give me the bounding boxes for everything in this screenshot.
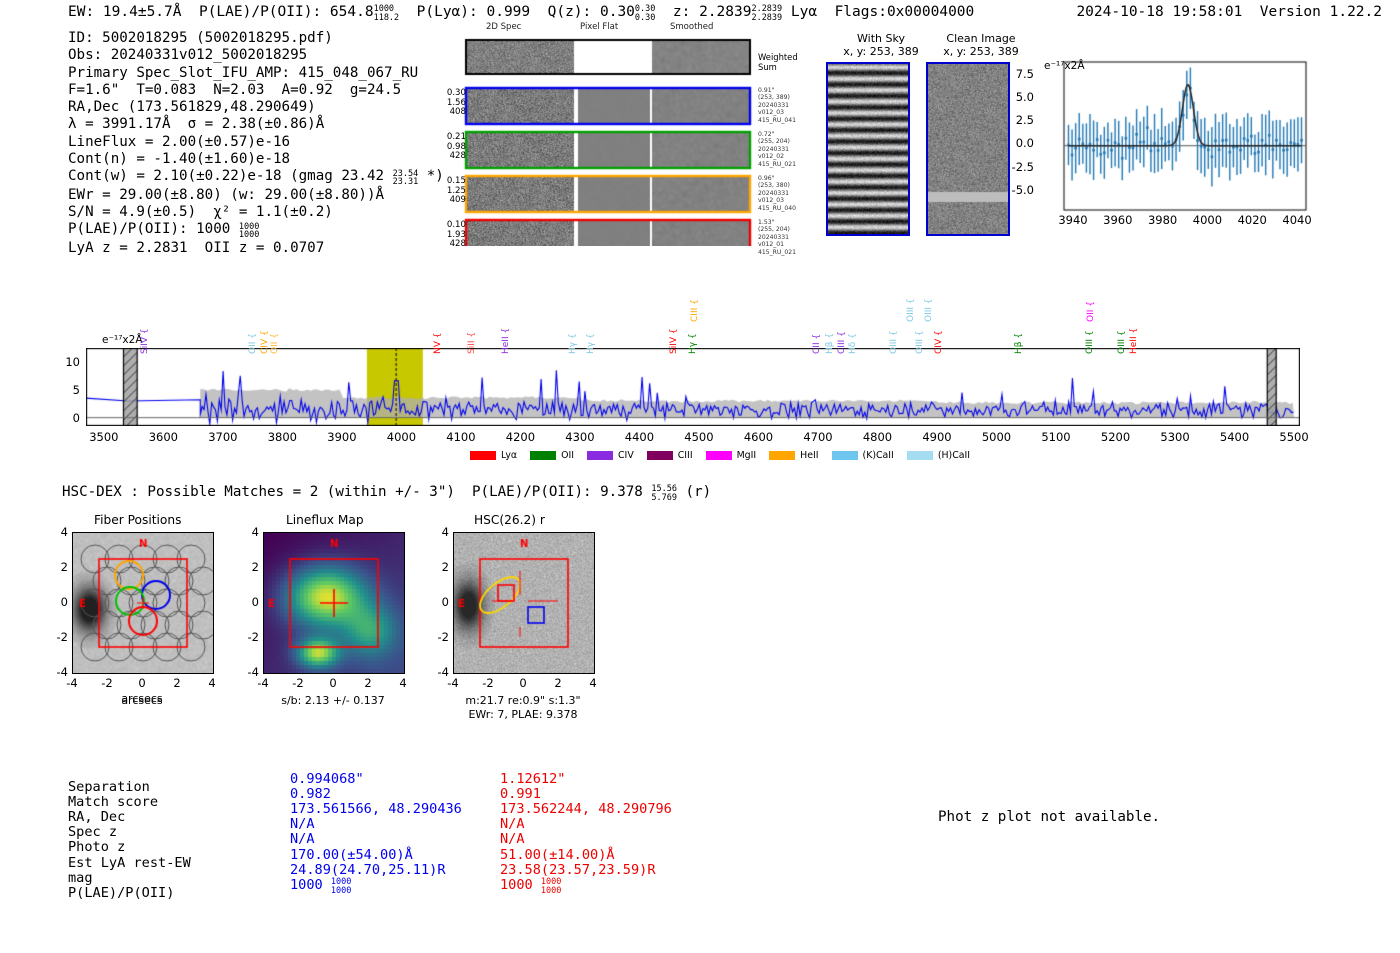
legend-swatch — [530, 451, 556, 460]
plae-line: P(LAE)/P(OII): 1000 10001000 — [68, 221, 444, 239]
match-table-row-label: Est LyA rest-EW — [68, 856, 278, 871]
legend-label: (K)CaII — [863, 450, 894, 461]
linefit-xtick: 4040 — [1280, 213, 1314, 227]
match-table-col1-value: N/A — [290, 817, 315, 832]
cutout-ytick: 2 — [423, 560, 449, 574]
match-table-col2-value: 51.00(±14.00)Å — [500, 848, 615, 863]
spectrum-xtick: 4500 — [677, 430, 721, 444]
match-table-col1-value: 0.982 — [290, 787, 331, 802]
legend-swatch — [907, 451, 933, 460]
cutout-xtick: 4 — [577, 676, 609, 690]
legend-item: (K)CaII — [832, 450, 894, 461]
fiber-positions-axis-label: arcsecs — [72, 692, 212, 705]
spectrum-xtick: 5200 — [1094, 430, 1138, 444]
cutout-ytick: 4 — [423, 525, 449, 539]
cutout-ytick: -4 — [42, 665, 68, 679]
spectrum-unit-label: e⁻¹⁷x2Å — [102, 334, 143, 346]
lineflux-map-caption: s/b: 2.13 +/- 0.137 — [253, 694, 413, 707]
match-table-col2-value: 0.991 — [500, 787, 541, 802]
spectrum-line-label: HeII { — [501, 328, 511, 354]
spectrum-line-label: OIII { — [906, 298, 916, 322]
match-table-row-label: RA, Dec — [68, 810, 278, 825]
cutout-xtick: 4 — [387, 676, 419, 690]
spectrum-line-label: Hβ { — [1014, 333, 1024, 354]
legend-label: CIV — [618, 450, 634, 461]
spectrum-xtick: 3500 — [82, 430, 126, 444]
linefit-ytick: 0.0 — [998, 136, 1034, 150]
spectrum-line-label: Hγ { — [568, 333, 578, 354]
cutout-xtick: 0 — [317, 676, 349, 690]
sn-chi2-line: S/N = 4.9(±0.5) χ² = 1.1(±0.2) — [68, 204, 444, 221]
cont-n-line: Cont(n) = -1.40(±1.60)e-18 — [68, 151, 444, 168]
legend-item: OII — [530, 450, 574, 461]
spectrum-xtick: 4800 — [855, 430, 899, 444]
line-fit-unit-label: e⁻¹⁷x2Å — [1044, 60, 1085, 72]
legend-swatch — [647, 451, 673, 460]
hscdex-header: HSC-DEX : Possible Matches = 2 (within +… — [62, 484, 711, 502]
legend-item: CIV — [587, 450, 634, 461]
header-z-range: 2.28392.2839 — [751, 5, 782, 22]
linefit-ytick: -2.5 — [998, 160, 1034, 174]
with-sky-image — [826, 62, 910, 236]
match-table-col2-value: N/A — [500, 817, 525, 832]
match-table-col1-value: 24.89(24.70,25.11)R — [290, 863, 446, 878]
spectrum-line-label: OII { — [248, 333, 258, 354]
match-table-row-label: P(LAE)/P(OII) — [68, 886, 278, 901]
spectrum-line-label: OII { — [1086, 301, 1096, 322]
spectrum-xtick: 5500 — [1272, 430, 1316, 444]
spectrum-line-label: SiII { — [467, 332, 477, 354]
spectrum-ytick: 10 — [44, 355, 80, 369]
legend-item: Lyα — [470, 450, 517, 461]
lineflux-map-image — [263, 532, 405, 674]
two-d-spectrum-canvas — [462, 36, 754, 246]
fiber-row-meta: 1.53"(255, 204)20240331v012_01415_RU_021 — [758, 219, 814, 256]
col-header-2dspec: 2D Spec — [486, 22, 521, 32]
primary-spec-line: Primary Spec_Slot_IFU_AMP: 415_048_067_R… — [68, 65, 444, 82]
header-plae-range: 1000118.2 — [374, 5, 400, 22]
spectrum-xtick: 4000 — [379, 430, 423, 444]
legend-item: CIII — [647, 450, 693, 461]
spectrum-xtick: 4600 — [736, 430, 780, 444]
match-table-col1-value: 170.00(±54.00)Å — [290, 848, 413, 863]
cutout-xtick: -2 — [472, 676, 504, 690]
spectrum-xtick: 4400 — [617, 430, 661, 444]
legend-item: HeII — [769, 450, 818, 461]
spectrum-ytick: 5 — [44, 383, 80, 397]
hscdex-line: HSC-DEX : Possible Matches = 2 (within +… — [62, 484, 643, 500]
full-spectrum-plot: e⁻¹⁷x2Å — [86, 348, 1300, 426]
with-sky-coords: x, y: 253, 389 — [826, 45, 936, 58]
line-fit-canvas — [1038, 56, 1310, 232]
fiber-row-meta: 0.72"(255, 204)20240331v012_02415_RU_021 — [758, 131, 814, 168]
ewr-line: EWr = 29.00(±8.80) (w: 29.00(±8.80))Å — [68, 187, 444, 204]
spectrum-line-label: OIII { — [915, 330, 925, 354]
match-table-row-label: Separation — [68, 780, 278, 795]
match-table-row-label: Spec z — [68, 825, 278, 840]
spectrum-line-label: NV { — [433, 333, 443, 354]
legend-label: OII — [561, 450, 574, 461]
spectrum-xtick: 4900 — [915, 430, 959, 444]
with-sky-title: With Sky x, y: 253, 389 — [826, 32, 936, 58]
fiber-row-left-label: 0.101.93428 — [426, 221, 466, 250]
cutout-ytick: -2 — [423, 630, 449, 644]
lineflux-line: LineFlux = 2.00(±0.57)e-16 — [68, 134, 444, 151]
linefit-xtick: 4020 — [1235, 213, 1269, 227]
cutout-ytick: 0 — [423, 595, 449, 609]
spectrum-xtick: 3800 — [260, 430, 304, 444]
cutout-xtick: 2 — [161, 676, 193, 690]
cont-w-line: Cont(w) = 2.10(±0.22)e-18 (gmag 23.42 23… — [68, 168, 444, 186]
match-table-col1-value: 0.994068" — [290, 772, 364, 787]
header-qz-range: 0.300.30 — [635, 5, 655, 22]
clean-image-title-text: Clean Image — [926, 32, 1036, 45]
header-summary-line: EW: 19.4±5.7Å P(LAE)/P(OII): 654.8100011… — [68, 4, 974, 22]
cutout-xtick: -2 — [91, 676, 123, 690]
panel-title-lineflux-map: Lineflux Map — [286, 513, 364, 527]
header-plya: P(Lyα): 0.999 — [417, 4, 531, 20]
legend-item: MgII — [706, 450, 757, 461]
header-qz: Q(z): 0.30 — [548, 4, 635, 20]
cutout-ytick: 0 — [233, 595, 259, 609]
gmag-range: 23.5423.31 — [393, 170, 419, 187]
spectrum-xtick: 4300 — [558, 430, 602, 444]
match-table-row-label: Photo z — [68, 840, 278, 855]
fiber-row-left-label: 0.301.56408 — [426, 89, 466, 118]
wavelength-line: λ = 3991.17Å σ = 2.38(±0.86)Å — [68, 116, 444, 133]
spectrum-line-label: OIII { — [1085, 330, 1095, 354]
match-table-col2-value: N/A — [500, 832, 525, 847]
spectrum-line-label: CII { — [812, 334, 822, 354]
linefit-ytick: 7.5 — [998, 67, 1034, 81]
panel-title-hsc: HSC(26.2) r — [474, 513, 545, 527]
weighted-sum-label: WeightedSum — [758, 52, 798, 72]
linefit-xtick: 3980 — [1146, 213, 1180, 227]
spectrum-xtick: 5000 — [975, 430, 1019, 444]
spectrum-xtick: 5300 — [1153, 430, 1197, 444]
legend-swatch — [832, 451, 858, 460]
legend-label: MgII — [737, 450, 757, 461]
full-spectrum-canvas — [86, 348, 1300, 426]
clean-image-title: Clean Image x, y: 253, 389 — [926, 32, 1036, 58]
fiber-row-meta: 0.91"(253, 389)20240331v012_03415_RU_041 — [758, 87, 814, 124]
match-table-col1-value: N/A — [290, 832, 315, 847]
linefit-ytick: 2.5 — [998, 113, 1034, 127]
spectrum-xtick: 4200 — [498, 430, 542, 444]
with-sky-title-text: With Sky — [826, 32, 936, 45]
cutout-xtick: 4 — [196, 676, 228, 690]
spectrum-xtick: 4100 — [439, 430, 483, 444]
match-table-col2-value: 23.58(23.57,23.59)R — [500, 863, 656, 878]
spectrum-xtick: 4700 — [796, 430, 840, 444]
spectrum-xtick: 5100 — [1034, 430, 1078, 444]
legend-label: CIII — [678, 450, 693, 461]
spectrum-line-label: CIII { — [837, 331, 847, 354]
seeing-line: F=1.6" T=0.083 N=2.03 A=0.92 g=24.5 — [68, 82, 444, 99]
legend-label: HeII — [800, 450, 818, 461]
spectrum-xtick: 3600 — [141, 430, 185, 444]
hsc-image — [453, 532, 595, 674]
header-plae-label: P(LAE)/P(OII): — [199, 4, 321, 20]
radec-line: RA,Dec (173.561829,48.290649) — [68, 99, 444, 116]
legend-swatch — [470, 451, 496, 460]
legend-label: Lyα — [501, 450, 517, 461]
spectrum-line-label: Hβ { — [825, 333, 835, 354]
spectrum-line-label: Hδ { — [848, 333, 858, 354]
spectrum-legend: LyαOIICIVCIIIMgIIHeII(K)CaII(H)CaII — [470, 450, 970, 461]
panel-title-fiber-positions: Fiber Positions — [94, 513, 181, 527]
header-ew: EW: 19.4±5.7Å — [68, 4, 182, 20]
spectrum-line-label: SiIV { — [669, 328, 679, 354]
id-line: ID: 5002018295 (5002018295.pdf) — [68, 30, 444, 47]
cutout-ytick: -2 — [42, 630, 68, 644]
match-table-col2-value: 173.562244, 48.290796 — [500, 802, 672, 817]
hsc-caption-2: EWr: 7, PLAE: 9.378 — [433, 708, 613, 721]
spectrum-xtick: 3900 — [320, 430, 364, 444]
line-fit-plot: e⁻¹⁷x2Å — [1038, 56, 1310, 232]
linefit-xtick: 4000 — [1190, 213, 1224, 227]
spectrum-line-label: Hγ { — [688, 333, 698, 354]
match-table-col2-value: 1000 10001000 — [500, 878, 561, 895]
linefit-ytick: 5.0 — [998, 90, 1034, 104]
spectrum-line-label: OII { — [270, 333, 280, 354]
hsc-caption-1: m:21.7 re:0.9" s:1.3" — [433, 694, 613, 707]
spectrum-line-label: CIV { — [934, 330, 944, 354]
cutout-ytick: -4 — [233, 665, 259, 679]
spectrum-line-label: OIII { — [1117, 330, 1127, 354]
linefit-xtick: 3940 — [1056, 213, 1090, 227]
legend-item: (H)CaII — [907, 450, 970, 461]
id-info-block: ID: 5002018295 (5002018295.pdf) Obs: 202… — [68, 30, 444, 257]
hscdex-plae-range: 15.565.769 — [651, 485, 677, 502]
header-timestamp-version: 2024-10-18 19:58:01 Version 1.22.2 — [1076, 4, 1382, 20]
fiber-row-meta: 0.96"(253, 380)20240331v012_03415_RU_040 — [758, 175, 814, 212]
photz-note: Phot z plot not available. — [938, 809, 1160, 825]
plae-range: 10001000 — [239, 223, 259, 240]
legend-swatch — [587, 451, 613, 460]
header-flags: Flags:0x00004000 — [835, 4, 975, 20]
cutout-xtick: 0 — [507, 676, 539, 690]
cutout-ytick: 2 — [42, 560, 68, 574]
col-header-smoothed: Smoothed — [670, 22, 713, 32]
spectrum-line-label: CIII { — [690, 299, 700, 322]
spectrum-ytick: 0 — [44, 411, 80, 425]
match-table-col1-value: 173.561566, 48.290436 — [290, 802, 462, 817]
col-header-pixelflat: Pixel Flat — [580, 22, 618, 32]
spectrum-line-label: OIII { — [889, 330, 899, 354]
redshift-line: LyA z = 2.2831 OII z = 0.0707 — [68, 240, 444, 257]
legend-label: (H)CaII — [938, 450, 970, 461]
match-table-row-label: mag — [68, 871, 278, 886]
match-table-col2-value: 1.12612" — [500, 772, 565, 787]
cutout-ytick: 0 — [42, 595, 68, 609]
spectrum-line-label: HeII { — [1129, 328, 1139, 354]
cutout-ytick: 4 — [42, 525, 68, 539]
spectrum-line-label: OIII { — [924, 298, 934, 322]
legend-swatch — [706, 451, 732, 460]
cutout-xtick: 2 — [352, 676, 384, 690]
spectrum-line-label: SiIV { — [140, 328, 150, 354]
match-table-row-label: Match score — [68, 795, 278, 810]
header-version: Version 1.22.2 — [1260, 4, 1382, 20]
cutout-xtick: -2 — [282, 676, 314, 690]
cutout-ytick: 4 — [233, 525, 259, 539]
spectrum-line-label: CIV { — [260, 330, 270, 354]
spectrum-line-label: Hγ { — [586, 333, 596, 354]
cutout-xtick: 2 — [542, 676, 574, 690]
spectrum-xtick: 5400 — [1213, 430, 1257, 444]
linefit-xtick: 3960 — [1101, 213, 1135, 227]
header-z-suffix: Lyα — [791, 4, 817, 20]
linefit-ytick: -5.0 — [998, 183, 1034, 197]
spectrum-xtick: 3700 — [201, 430, 245, 444]
clean-image-coords: x, y: 253, 389 — [926, 45, 1036, 58]
fiber-row-left-label: 0.210.98428 — [426, 133, 466, 162]
header-z: z: 2.2839 — [673, 4, 752, 20]
obs-line: Obs: 20240331v012_5002018295 — [68, 47, 444, 64]
header-datetime: 2024-10-18 19:58:01 — [1076, 4, 1242, 20]
fiber-row-left-label: 0.151.25409 — [426, 177, 466, 206]
cutout-ytick: 2 — [233, 560, 259, 574]
cutout-ytick: -4 — [423, 665, 449, 679]
legend-swatch — [769, 451, 795, 460]
cutout-ytick: -2 — [233, 630, 259, 644]
header-plae-value: 654.8 — [330, 4, 374, 20]
two-d-spectrum-panel: 2D Spec Pixel Flat Smoothed WeightedSum … — [462, 36, 754, 246]
match-table-col1-value: 1000 10001000 — [290, 878, 351, 895]
hscdex-suffix: (r) — [686, 484, 712, 500]
cutout-xtick: 0 — [126, 676, 158, 690]
fiber-positions-image — [72, 532, 214, 674]
